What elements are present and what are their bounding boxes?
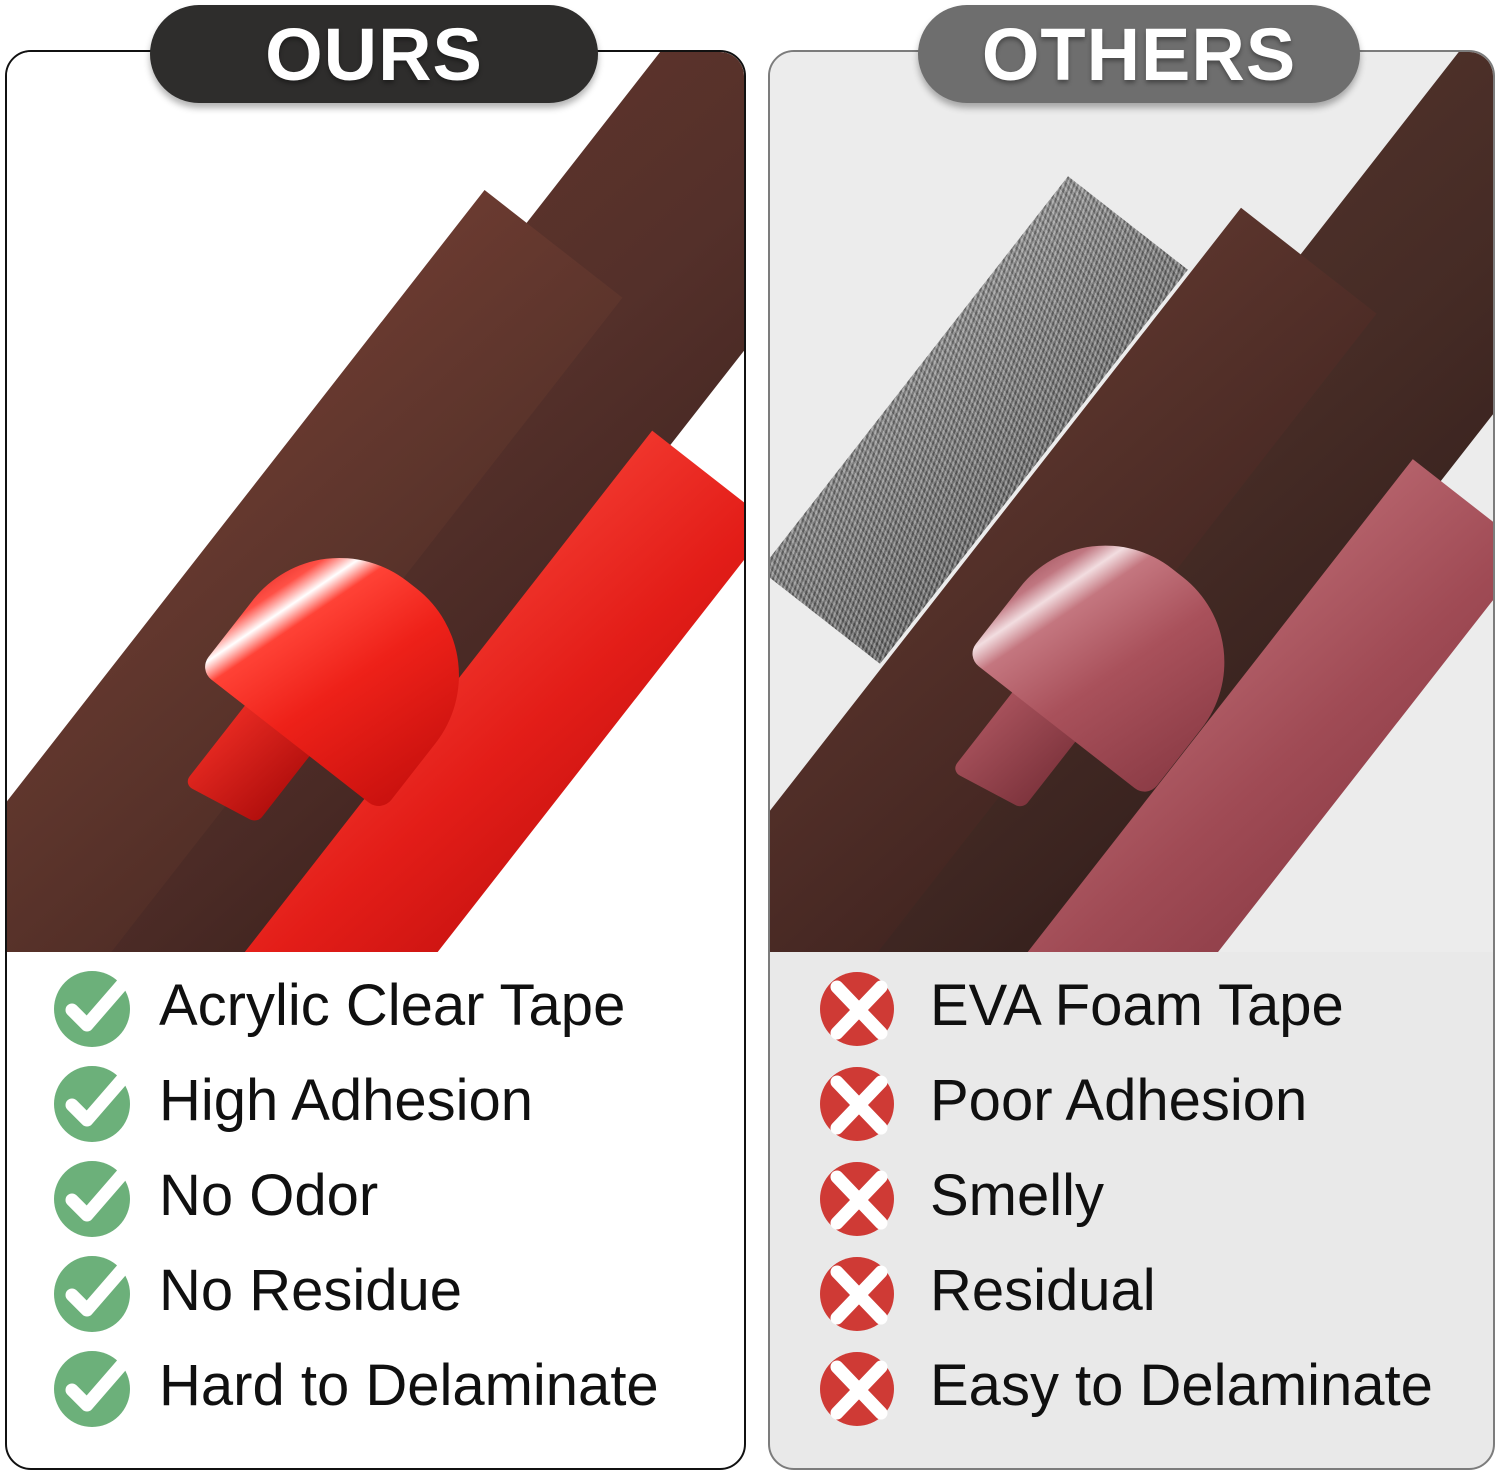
badge-ours-label: OURS	[265, 12, 483, 97]
feature-label: Acrylic Clear Tape	[159, 977, 625, 1035]
feature-label: Easy to Delaminate	[930, 1357, 1433, 1415]
comparison-panel-ours: Acrylic Clear Tape High Adhesion No Odor…	[5, 50, 746, 1470]
cross-circle-icon	[820, 967, 898, 1045]
feature-row: High Adhesion	[53, 1053, 746, 1148]
product-photo-others	[770, 52, 1493, 952]
feature-row: Poor Adhesion	[820, 1053, 1495, 1148]
product-photo-ours	[7, 52, 744, 952]
feature-row: Smelly	[820, 1148, 1495, 1243]
check-circle-icon	[53, 1252, 131, 1330]
comparison-panel-others: EVA Foam Tape Poor Adhesion Smelly Resid…	[768, 50, 1495, 1470]
feature-label: No Odor	[159, 1167, 378, 1225]
feature-label: Hard to Delaminate	[159, 1357, 659, 1415]
cross-circle-icon	[820, 1252, 898, 1330]
badge-others: OTHERS	[918, 5, 1360, 103]
check-circle-icon	[53, 1347, 131, 1425]
check-circle-icon	[53, 1157, 131, 1235]
feature-list-ours: Acrylic Clear Tape High Adhesion No Odor…	[7, 958, 746, 1433]
feature-label: Smelly	[930, 1167, 1104, 1225]
feature-row: No Residue	[53, 1243, 746, 1338]
feature-label: Poor Adhesion	[930, 1072, 1307, 1130]
badge-others-label: OTHERS	[982, 12, 1296, 97]
feature-row: Easy to Delaminate	[820, 1338, 1495, 1433]
feature-row: No Odor	[53, 1148, 746, 1243]
feature-row: Acrylic Clear Tape	[53, 958, 746, 1053]
feature-label: EVA Foam Tape	[930, 977, 1344, 1035]
check-circle-icon	[53, 1062, 131, 1140]
feature-list-others: EVA Foam Tape Poor Adhesion Smelly Resid…	[770, 958, 1495, 1433]
cross-circle-icon	[820, 1062, 898, 1140]
check-circle-icon	[53, 967, 131, 1045]
feature-row: Hard to Delaminate	[53, 1338, 746, 1433]
feature-row: EVA Foam Tape	[820, 958, 1495, 1053]
badge-ours: OURS	[150, 5, 598, 103]
feature-label: High Adhesion	[159, 1072, 533, 1130]
feature-label: Residual	[930, 1262, 1156, 1320]
feature-label: No Residue	[159, 1262, 462, 1320]
feature-row: Residual	[820, 1243, 1495, 1338]
cross-circle-icon	[820, 1347, 898, 1425]
cross-circle-icon	[820, 1157, 898, 1235]
